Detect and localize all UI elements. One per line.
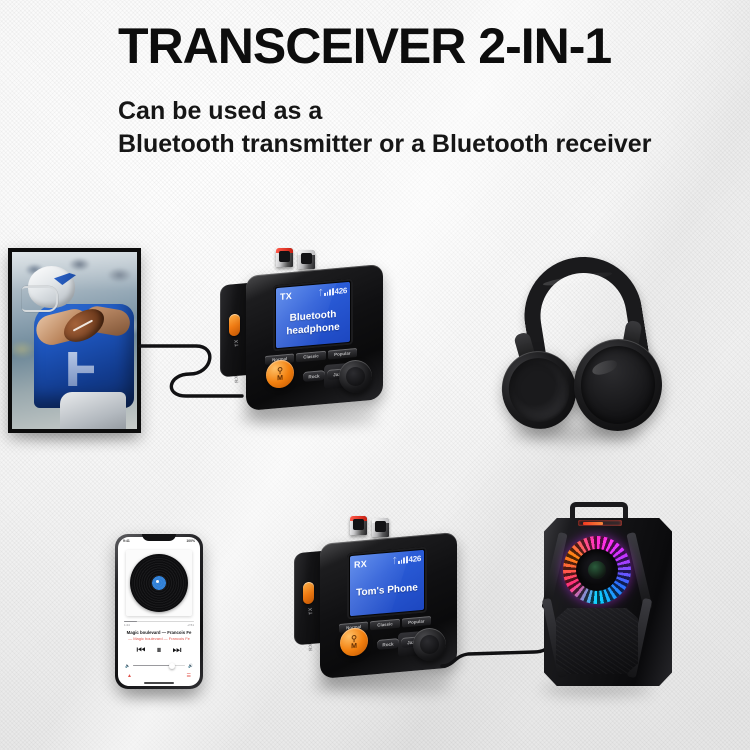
phone-status-time: 9:41 <box>123 539 130 543</box>
screen-status-number: 426 <box>409 554 421 564</box>
bluetooth-icon: ᛏ <box>392 557 397 565</box>
american-football-player-photo <box>12 252 137 429</box>
switch-label-rx: RX <box>233 368 241 390</box>
screen-status-bar: TX ᛏ 426 <box>280 285 347 302</box>
phone-bottom-icons[interactable]: ▲ ☰ <box>127 673 191 679</box>
play-pause-icon[interactable]: ⏸ <box>157 646 162 656</box>
screen-mode-label: TX <box>280 290 292 301</box>
speaker-low-icon: 🔈 <box>125 663 130 668</box>
phone-remaining-time: -2:51 <box>187 623 194 627</box>
phone-home-indicator <box>144 682 174 684</box>
phone-track-title: Magic boulevard — Francois Fe <box>118 630 200 635</box>
speaker-display-led <box>578 520 622 526</box>
device-display-bezel: RX ᛏ 426 Tom's Phone <box>347 547 427 620</box>
previous-track-icon[interactable]: ⏮ <box>137 646 146 656</box>
screen-status-number: 426 <box>335 286 347 296</box>
photo-player-pants <box>60 392 126 429</box>
signal-bars-icon <box>398 556 407 564</box>
speaker-driver-dome <box>588 561 606 579</box>
rx-device-shadow <box>312 678 452 694</box>
device-display-bezel: TX ᛏ 426 Bluetooth headphone <box>273 279 353 352</box>
speaker-woofer-grille <box>556 608 638 674</box>
mode-button-label: M <box>277 374 283 382</box>
volume-knob[interactable] <box>413 628 446 661</box>
phone-status-battery: 100% <box>186 539 195 543</box>
phone-album-art <box>126 550 192 616</box>
phone-notch <box>142 534 176 541</box>
bluetooth-icon: ᛏ <box>318 289 323 297</box>
playlist-icon[interactable]: ☰ <box>187 673 191 679</box>
phone-progress-times: 1:24 -2:51 <box>124 623 194 627</box>
phone-elapsed-time: 1:24 <box>124 623 130 627</box>
rca-white-jack[interactable] <box>372 518 389 537</box>
volume-knob[interactable] <box>339 360 372 393</box>
preset-rock-button[interactable]: Rock <box>377 638 399 650</box>
vinyl-record <box>130 554 188 612</box>
screen-main-text: Bluetooth headphone <box>280 302 346 345</box>
rca-white-jack[interactable] <box>298 250 315 269</box>
headphones-earpad-left <box>502 352 576 429</box>
screen-main-text: Tom's Phone <box>354 570 420 613</box>
preset-rock-button[interactable]: Rock <box>303 370 325 382</box>
tx-device-shadow <box>238 410 378 426</box>
screen-mode-label: RX <box>354 558 367 569</box>
airplay-icon[interactable]: ▲ <box>127 673 132 679</box>
rca-red-jack[interactable] <box>276 248 293 267</box>
rca-red-jack[interactable] <box>350 516 367 535</box>
phone-progress-section[interactable]: 1:24 -2:51 <box>124 621 194 628</box>
signal-bars-icon <box>324 288 333 296</box>
device-lcd-screen: RX ᛏ 426 Tom's Phone <box>350 550 424 616</box>
source-photo-frame <box>8 248 141 433</box>
volume-track[interactable] <box>133 665 185 667</box>
bluetooth-party-speaker <box>530 500 690 690</box>
page-title: TRANSCEIVER 2-IN-1 <box>118 20 738 73</box>
phone-transport-controls[interactable]: ⏮ ⏸ ⏭ <box>118 646 200 656</box>
device-lcd-screen: TX ᛏ 426 Bluetooth headphone <box>276 282 350 348</box>
phone-volume-slider[interactable]: 🔈 🔊 <box>125 663 193 668</box>
tx-rx-mode-switch[interactable] <box>229 314 240 337</box>
headphones-earpad-right <box>577 342 659 427</box>
subtitle-line-2: Bluetooth transmitter or a Bluetooth rec… <box>118 128 718 161</box>
screen-status-icons: ᛏ 426 <box>318 286 347 298</box>
phone-progress-bar[interactable] <box>124 621 194 623</box>
page-subtitle: Can be used as a Bluetooth transmitter o… <box>118 95 718 162</box>
search-icon: ⚲ <box>351 634 357 643</box>
mode-button-label: M <box>351 642 357 650</box>
product-marketing-image: TRANSCEIVER 2-IN-1 Can be used as a Blue… <box>0 0 750 750</box>
screen-text-line-1: Tom's Phone <box>356 583 418 601</box>
next-track-icon[interactable]: ⏭ <box>173 646 182 656</box>
screen-status-bar: RX ᛏ 426 <box>354 553 421 570</box>
smartphone-music-player[interactable]: 9:41 100% 1:24 -2:51 Magic boulevard — F… <box>115 534 203 689</box>
photo-helmet-facemask <box>22 286 58 312</box>
phone-screen: 9:41 100% 1:24 -2:51 Magic boulevard — F… <box>118 537 200 686</box>
search-icon: ⚲ <box>277 366 283 375</box>
bluetooth-over-ear-headphones <box>498 255 668 435</box>
bluetooth-transmitter-device[interactable]: TX RX TX ᛏ 426 Bluetooth headphone <box>218 248 383 408</box>
tx-rx-mode-switch[interactable] <box>303 582 314 605</box>
phone-track-subtitle: — Magic boulevard — Francois Fe <box>118 636 200 641</box>
screen-status-icons: ᛏ 426 <box>392 554 421 566</box>
subtitle-line-1: Can be used as a <box>118 95 718 128</box>
speaker-high-icon: 🔊 <box>188 663 193 668</box>
switch-label-rx: RX <box>307 636 315 658</box>
bluetooth-receiver-device[interactable]: TX RX RX ᛏ 426 Tom's Phone <box>292 516 457 676</box>
